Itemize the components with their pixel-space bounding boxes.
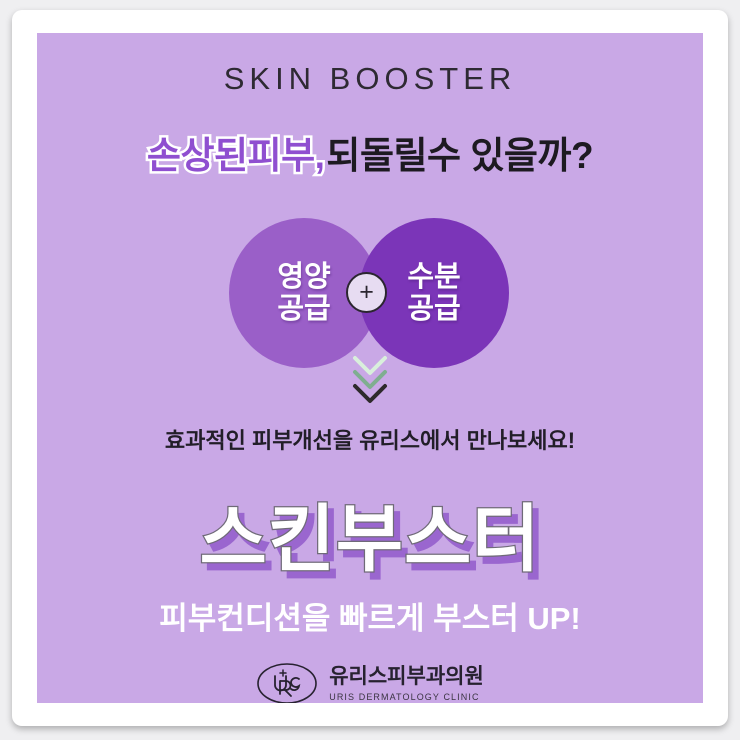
product-subtitle: 피부컨디션을 빠르게 부스터 UP! <box>37 593 703 638</box>
mid-message: 효과적인 피부개선을 유리스에서 만나보세요! <box>37 423 703 455</box>
chevron-arrows <box>37 355 703 417</box>
clinic-name-en: URIS DERMATOLOGY CLINIC <box>329 692 479 702</box>
headline-highlight: 손상된피부, <box>147 135 324 176</box>
venn-right-line1: 수분 <box>407 261 460 293</box>
venn-right-line2: 공급 <box>407 293 460 325</box>
poster-card: SKIN BOOSTER 손상된피부,되돌릴수 있을까? 영양 공급 수분 공급… <box>12 10 728 726</box>
logo-text-block: 유리스피부과의원 URIS DERMATOLOGY CLINIC <box>329 665 484 701</box>
logo-monogram-icon <box>256 661 318 703</box>
chevron-down-icon-3 <box>352 383 388 405</box>
clinic-name-ko: 유리스피부과의원 <box>329 665 484 688</box>
clinic-logo: 유리스피부과의원 URIS DERMATOLOGY CLINIC <box>37 661 703 703</box>
plus-icon: + <box>346 272 387 313</box>
headline: 손상된피부,되돌릴수 있을까? <box>37 125 703 179</box>
product-title: 스킨부스터 <box>37 480 703 586</box>
venn-left-line2: 공급 <box>277 293 330 325</box>
poster-panel: SKIN BOOSTER 손상된피부,되돌릴수 있을까? 영양 공급 수분 공급… <box>37 33 703 703</box>
eyebrow-text: SKIN BOOSTER <box>37 61 703 97</box>
headline-rest: 되돌릴수 있을까? <box>326 135 593 176</box>
venn-left-line1: 영양 <box>277 261 330 293</box>
venn-diagram: 영양 공급 수분 공급 + <box>37 218 703 368</box>
